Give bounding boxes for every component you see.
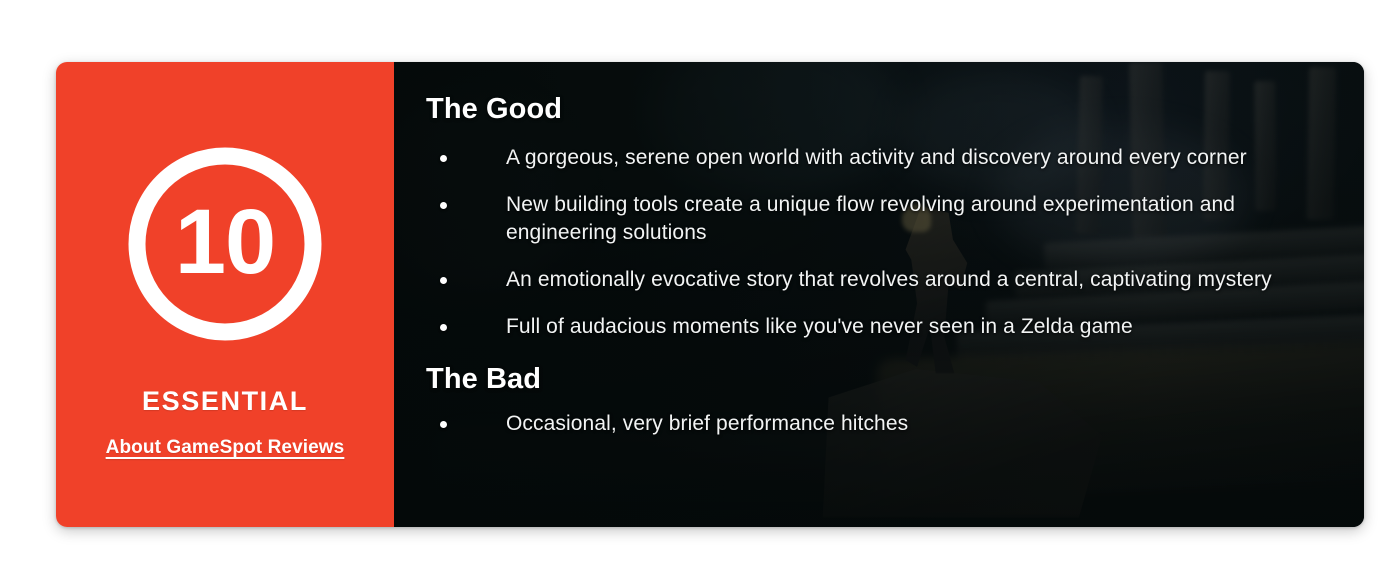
list-item: A gorgeous, serene open world with activ…	[426, 144, 1336, 172]
the-bad-list: Occasional, very brief performance hitch…	[426, 410, 1336, 438]
verdict-panel: The Good A gorgeous, serene open world w…	[394, 62, 1364, 527]
list-item: New building tools create a unique flow …	[426, 191, 1336, 247]
score-ring-icon: 10	[127, 146, 323, 342]
score-value: 10	[127, 146, 323, 342]
the-good-heading: The Good	[426, 93, 1336, 126]
the-good-list: A gorgeous, serene open world with activ…	[426, 144, 1336, 341]
verdict-content: The Good A gorgeous, serene open world w…	[394, 62, 1364, 438]
about-gamespot-reviews-link[interactable]: About GameSpot Reviews	[106, 437, 345, 459]
score-panel: 10 ESSENTIAL About GameSpot Reviews	[56, 62, 394, 527]
list-item: Occasional, very brief performance hitch…	[426, 410, 1336, 438]
screenshot-stage: 10 ESSENTIAL About GameSpot Reviews	[0, 0, 1380, 576]
list-item: An emotionally evocative story that revo…	[426, 266, 1336, 294]
the-bad-heading: The Bad	[426, 363, 1336, 396]
score-tier-label: ESSENTIAL	[142, 388, 308, 415]
list-item: Full of audacious moments like you've ne…	[426, 313, 1336, 341]
review-verdict-card: 10 ESSENTIAL About GameSpot Reviews	[56, 62, 1364, 527]
